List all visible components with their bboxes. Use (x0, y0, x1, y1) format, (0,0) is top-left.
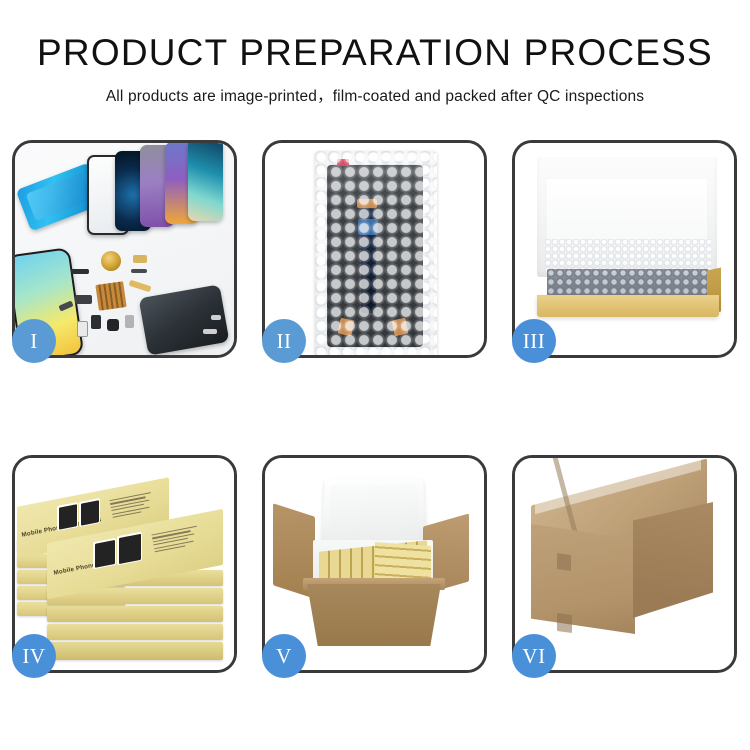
page-title: PRODUCT PREPARATION PROCESS (0, 34, 750, 73)
process-step-1[interactable]: I (12, 140, 237, 358)
carton-tab (557, 553, 571, 571)
step-badge-6: VI (512, 634, 556, 678)
carton-body (307, 584, 441, 646)
process-step-2[interactable]: II (262, 140, 487, 358)
screw-part (211, 315, 221, 320)
component-part (131, 269, 147, 273)
retail-box-edge (47, 624, 223, 640)
box-screen-image (117, 532, 142, 566)
step-badge-2: II (262, 319, 306, 363)
flex-cable-part (129, 280, 152, 293)
component-part (125, 315, 134, 328)
process-step-grid: I II III (12, 140, 738, 673)
process-step-6[interactable]: VI (512, 455, 737, 673)
page-subtitle: All products are image-printed，film-coat… (0, 84, 750, 106)
box-screen-image (79, 498, 100, 527)
step-badge-3: III (512, 319, 556, 363)
bubble-wrap-overlay (315, 151, 437, 355)
box-screen-image (93, 538, 116, 569)
box-screen-image (57, 502, 78, 531)
carton-left-face (531, 524, 635, 634)
component-part (75, 295, 92, 304)
component-part (71, 269, 89, 274)
component-part (133, 255, 147, 263)
lcd-screen-graphic-4 (188, 143, 223, 221)
chip-array-part (95, 281, 126, 311)
retail-box-edge (47, 642, 223, 660)
step-badge-1: I (12, 319, 56, 363)
styrofoam-lid (321, 478, 427, 546)
step-badge-5: V (262, 634, 306, 678)
component-part (91, 315, 101, 329)
process-step-5[interactable]: V (262, 455, 487, 673)
process-step-3[interactable]: III (512, 140, 737, 358)
step-badge-4: IV (12, 634, 56, 678)
component-part (107, 319, 119, 331)
screw-part (203, 329, 217, 334)
component-part (77, 321, 88, 337)
carton-right-face (633, 502, 713, 618)
carton-tab (557, 613, 572, 633)
page-header: PRODUCT PREPARATION PROCESS All products… (0, 0, 750, 106)
process-step-4[interactable]: Mobile Phone Spare Parts Mobile Phone Sp… (12, 455, 237, 673)
foam-padding (545, 239, 711, 273)
copper-coil-part (101, 251, 121, 271)
kraft-tray-front (537, 295, 719, 317)
retail-box-edge (47, 606, 223, 622)
